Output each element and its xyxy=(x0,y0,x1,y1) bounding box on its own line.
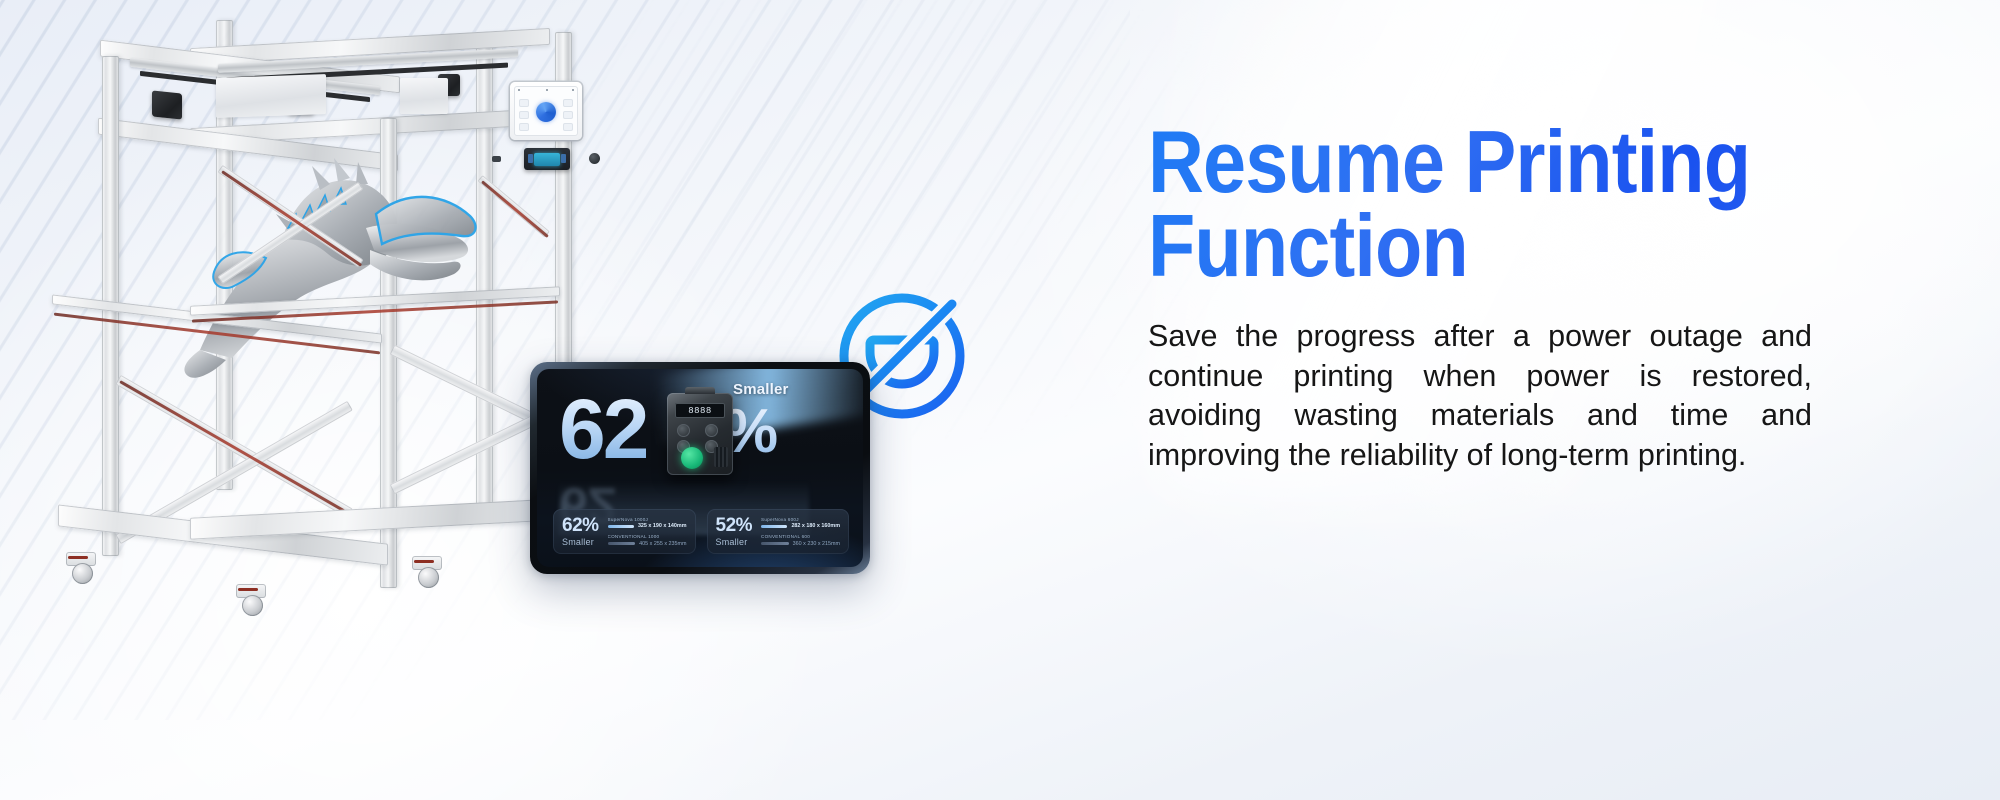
card-bar-caption: SuperNova 1000J xyxy=(608,517,687,522)
power-station-handle xyxy=(685,387,715,394)
screen-tile[interactable] xyxy=(563,123,573,131)
card-percent: 62% xyxy=(562,516,599,535)
comparison-cards: 62% Smaller SuperNova 1000J 325 x 190 x … xyxy=(553,509,849,554)
card-bar-fill xyxy=(761,525,787,528)
card-bars: SuperNova 1000J 325 x 190 x 140mm CONVEN… xyxy=(608,517,687,547)
promo-banner: 62 % Smaller 8888 62 xyxy=(0,0,2000,800)
portable-power-station-image: 8888 xyxy=(667,393,733,475)
power-station-display: 8888 xyxy=(675,403,725,418)
screen-status-bar xyxy=(518,89,574,92)
printer-caster xyxy=(66,552,96,586)
screen-tile[interactable] xyxy=(563,111,573,119)
card-bar-line: 405 x 255 x 235mm xyxy=(608,541,687,547)
printer-caster xyxy=(236,584,266,618)
hero-smaller-label: Smaller xyxy=(733,381,789,398)
card-bar-value: 325 x 190 x 140mm xyxy=(638,523,687,529)
card-bar-fill xyxy=(761,542,789,545)
page-title: Resume Printing Function xyxy=(1148,120,1831,289)
card-bar-value: 405 x 255 x 235mm xyxy=(639,541,686,547)
printer-carriage-plate xyxy=(400,78,448,114)
power-station-display-value: 8888 xyxy=(688,406,712,416)
card-bar-caption: CONVENTIONAL 600 xyxy=(761,534,840,539)
printer-lcd-module[interactable] xyxy=(524,148,570,170)
hero-percentage-number: 62 xyxy=(559,391,646,468)
card-sublabel: Smaller xyxy=(716,537,753,547)
card-bar-row: CONVENTIONAL 1000 405 x 255 x 235mm xyxy=(608,534,687,547)
card-metric: 62% Smaller xyxy=(562,516,599,547)
comparison-card: 62% Smaller SuperNova 1000J 325 x 190 x … xyxy=(553,509,696,554)
printer-knob-right[interactable] xyxy=(589,153,600,164)
card-metric: 52% Smaller xyxy=(716,516,753,547)
printer-stepper-motor xyxy=(152,90,182,119)
card-bar-value: 282 x 180 x 160mm xyxy=(791,523,840,529)
copy-block: Resume Printing Function Save the progre… xyxy=(1148,120,1924,476)
tablet-screen[interactable]: 62 % Smaller 8888 62 xyxy=(537,369,863,567)
power-station-power-button xyxy=(681,447,703,469)
printer-caster xyxy=(412,556,442,590)
card-bar-fill xyxy=(608,542,636,545)
card-bar-line: 360 x 230 x 215mm xyxy=(761,541,840,547)
printer-screen-logo xyxy=(536,102,556,122)
tablet-device[interactable]: 62 % Smaller 8888 62 xyxy=(530,362,870,574)
printer-control-panel[interactable] xyxy=(510,82,582,140)
printer-base-beam xyxy=(190,498,560,539)
card-bar-caption: SuperNova 600J xyxy=(761,517,840,522)
power-station-vent xyxy=(714,447,728,467)
power-station-outlet xyxy=(705,424,718,437)
card-bar-row: CONVENTIONAL 600 360 x 230 x 215mm xyxy=(761,534,840,547)
printed-dragon-model xyxy=(170,154,490,384)
card-bar-row: SuperNova 600J 282 x 180 x 160mm xyxy=(761,517,840,530)
card-bars: SuperNova 600J 282 x 180 x 160mm CONVENT… xyxy=(761,517,840,547)
screen-tile[interactable] xyxy=(519,99,529,107)
printer-knob-left[interactable] xyxy=(492,156,501,162)
printer-carriage-plate xyxy=(216,74,326,118)
comparison-card: 52% Smaller SuperNova 600J 282 x 180 x 1… xyxy=(707,509,850,554)
card-percent: 52% xyxy=(716,516,753,535)
screen-tile[interactable] xyxy=(563,99,573,107)
power-station-outlet xyxy=(677,424,690,437)
card-bar-fill xyxy=(608,525,634,528)
card-bar-line: 282 x 180 x 160mm xyxy=(761,523,840,529)
body-paragraph: Save the progress after a power outage a… xyxy=(1148,317,1812,476)
printer-touchscreen[interactable] xyxy=(514,86,578,136)
card-bar-caption: CONVENTIONAL 1000 xyxy=(608,534,687,539)
card-bar-row: SuperNova 1000J 325 x 190 x 140mm xyxy=(608,517,687,530)
card-bar-line: 325 x 190 x 140mm xyxy=(608,523,687,529)
printer-brace-stripe xyxy=(119,380,351,516)
screen-tile[interactable] xyxy=(519,123,529,131)
card-sublabel: Smaller xyxy=(562,537,599,547)
card-bar-value: 360 x 230 x 215mm xyxy=(793,541,840,547)
printer-lcd-glass xyxy=(534,153,560,166)
screen-tile[interactable] xyxy=(519,111,529,119)
